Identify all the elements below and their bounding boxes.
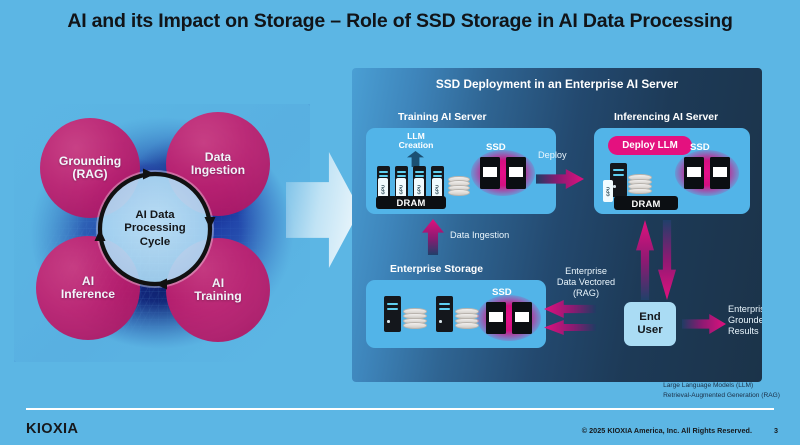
data-ingestion-arrow-icon <box>422 219 444 255</box>
training-ssd-group <box>480 157 526 189</box>
data-ingestion-label: Data Ingestion <box>450 230 509 241</box>
training-gpu-label-2: GPU <box>399 184 404 194</box>
deploy-llm-pill[interactable]: Deploy LLM <box>608 136 692 155</box>
training-gpu-label-1: GPU <box>381 184 386 194</box>
storage-server-rack-1 <box>384 296 401 332</box>
page-number: 3 <box>774 426 778 435</box>
training-ssd-unit-1 <box>480 157 500 189</box>
grounded-results-line3: Results <box>728 326 762 337</box>
cycle-center-line3: Cycle <box>124 236 185 249</box>
inferencing-ssd-unit-2 <box>710 157 730 189</box>
footer-divider <box>26 408 774 410</box>
storage-ssd-group <box>486 302 532 334</box>
training-gpu-label-3: GPU <box>417 184 422 194</box>
ai-data-processing-cycle-graphic: Grounding (RAG) Data Ingestion AI Infere… <box>14 104 310 362</box>
inferencing-ssd-group <box>684 157 730 189</box>
storage-ssd-unit-1 <box>486 302 506 334</box>
panel-title: SSD Deployment in an Enterprise AI Serve… <box>352 77 762 91</box>
vectored-rag-line1: Enterprise <box>548 266 624 277</box>
training-gpu-label-4: GPU <box>435 184 440 194</box>
end-user-query-arrow-icon <box>544 320 596 335</box>
end-user-line2: User <box>637 324 662 337</box>
storage-ssd-unit-2 <box>512 302 532 334</box>
cycle-center-line1: AI Data <box>124 209 185 222</box>
inferencing-ssd-unit-1 <box>684 157 704 189</box>
llm-creation-line2: Creation <box>388 141 444 150</box>
training-dram-bar: DRAM <box>376 196 446 209</box>
vectored-rag-label: Enterprise Data Vectored (RAG) <box>548 266 624 299</box>
grounded-results-line2: Grounded <box>728 315 762 326</box>
copyright-text: © 2025 KIOXIA America, Inc. All Rights R… <box>582 426 752 435</box>
cycle-center-label: AI Data Processing Cycle <box>98 172 212 286</box>
end-user-box: End User <box>624 302 676 346</box>
inferencing-disk-stack-icon <box>628 174 650 194</box>
page-title: AI and its Impact on Storage – Role of S… <box>0 10 800 33</box>
llm-creation-label: LLM Creation <box>388 132 444 151</box>
vectored-rag-line2: Data Vectored <box>548 277 624 288</box>
inferencing-gpu-card: GPU <box>603 180 613 202</box>
storage-disk-stack-2 <box>455 308 477 330</box>
training-disk-stack-icon <box>448 176 468 194</box>
training-ssd-unit-2 <box>506 157 526 189</box>
inference-down-arrow-icon <box>658 220 676 300</box>
grounded-results-arrow-icon <box>682 314 726 334</box>
inferencing-gpu-label: GPU <box>606 186 611 196</box>
storage-disk-stack-1 <box>403 308 425 330</box>
inferencing-server-title: Inferencing AI Server <box>614 112 718 123</box>
vectored-rag-line3: (RAG) <box>548 288 624 299</box>
grounded-results-line1: Enterprise <box>728 304 762 315</box>
training-server-title: Training AI Server <box>398 112 487 123</box>
cycle-center-line2: Processing <box>124 222 185 235</box>
vectored-rag-arrow-icon <box>544 300 596 318</box>
inferencing-dram-bar: DRAM <box>614 196 678 210</box>
slide-root: AI and its Impact on Storage – Role of S… <box>0 0 800 445</box>
footnote-line1: Large Language Models (LLM) <box>663 381 780 391</box>
storage-server-rack-2 <box>436 296 453 332</box>
deploy-label: Deploy <box>538 150 567 161</box>
footnote: Large Language Models (LLM) Retrieval-Au… <box>663 381 780 400</box>
end-user-line1: End <box>637 311 662 324</box>
ssd-deployment-panel: SSD Deployment in an Enterprise AI Serve… <box>352 68 762 382</box>
footnote-line2: Retrieval-Augmented Generation (RAG) <box>663 391 780 401</box>
kioxia-logo: KIOXIA <box>26 421 78 437</box>
enterprise-storage-title: Enterprise Storage <box>390 264 483 275</box>
grounded-results-label: Enterprise Grounded Results <box>728 304 762 337</box>
inference-up-arrow-icon <box>636 220 654 300</box>
